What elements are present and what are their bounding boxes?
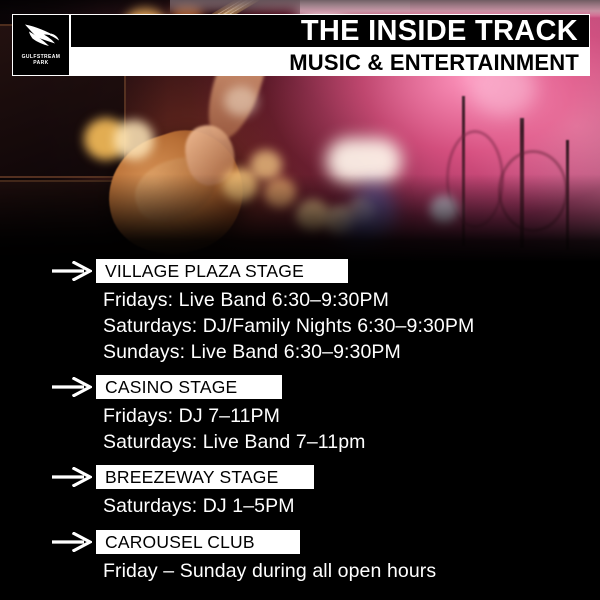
gulfstream-park-logo[interactable]: GULFSTREAM PARK [12, 14, 70, 76]
page-subtitle: MUSIC & ENTERTAINMENT [289, 51, 579, 74]
section-header: BREEZEWAY STAGE [0, 464, 600, 490]
section-label-breezeway-stage[interactable]: BREEZEWAY STAGE [96, 465, 314, 489]
logo-wordmark-line2: PARK [33, 60, 48, 66]
schedule-section-carousel-club: CAROUSEL CLUB Friday – Sunday during all… [0, 529, 600, 584]
schedule-section-village-plaza-stage: VILLAGE PLAZA STAGE Fridays: Live Band 6… [0, 258, 600, 365]
section-label-casino-stage[interactable]: CASINO STAGE [96, 375, 282, 399]
page-title: THE INSIDE TRACK [301, 16, 578, 46]
header-subtitle-bar: MUSIC & ENTERTAINMENT [70, 48, 590, 76]
schedule-section-casino-stage: CASINO STAGE Fridays: DJ 7–11PM Saturday… [0, 374, 600, 455]
schedule-line: Sundays: Live Band 6:30–9:30PM [103, 339, 600, 365]
arrow-right-icon [52, 261, 92, 281]
arrow-right-icon [52, 467, 92, 487]
section-lines: Fridays: DJ 7–11PM Saturdays: Live Band … [0, 400, 600, 455]
bokeh-light [224, 86, 258, 116]
header-title-bar: THE INSIDE TRACK [70, 14, 590, 48]
section-lines: Friday – Sunday during all open hours [0, 555, 600, 584]
bokeh-light [114, 120, 154, 160]
photo-bottom-fade [0, 174, 600, 262]
section-header: CAROUSEL CLUB [0, 529, 600, 555]
schedule-line: Saturdays: Live Band 7–11pm [103, 429, 600, 455]
inside-track-poster: GULFSTREAM PARK THE INSIDE TRACK MUSIC &… [0, 0, 600, 600]
section-label-village-plaza-stage[interactable]: VILLAGE PLAZA STAGE [96, 259, 348, 283]
arrow-right-icon [52, 532, 92, 552]
schedule-line: Friday – Sunday during all open hours [103, 558, 600, 584]
poster-header: GULFSTREAM PARK THE INSIDE TRACK MUSIC &… [0, 0, 600, 90]
section-lines: Saturdays: DJ 1–5PM [0, 490, 600, 519]
schedule-line: Saturdays: DJ 1–5PM [103, 493, 600, 519]
schedule-line: Fridays: Live Band 6:30–9:30PM [103, 287, 600, 313]
schedule-line: Saturdays: DJ/Family Nights 6:30–9:30PM [103, 313, 600, 339]
section-lines: Fridays: Live Band 6:30–9:30PM Saturdays… [0, 284, 600, 365]
section-header: VILLAGE PLAZA STAGE [0, 258, 600, 284]
schedule-line: Fridays: DJ 7–11PM [103, 403, 600, 429]
section-header: CASINO STAGE [0, 374, 600, 400]
entertainment-schedule: VILLAGE PLAZA STAGE Fridays: Live Band 6… [0, 258, 600, 586]
section-label-carousel-club[interactable]: CAROUSEL CLUB [96, 530, 300, 554]
logo-wordmark: GULFSTREAM PARK [22, 54, 61, 66]
schedule-section-breezeway-stage: BREEZEWAY STAGE Saturdays: DJ 1–5PM [0, 464, 600, 519]
arrow-right-icon [52, 377, 92, 397]
gulfstream-wing-icon [21, 21, 61, 51]
